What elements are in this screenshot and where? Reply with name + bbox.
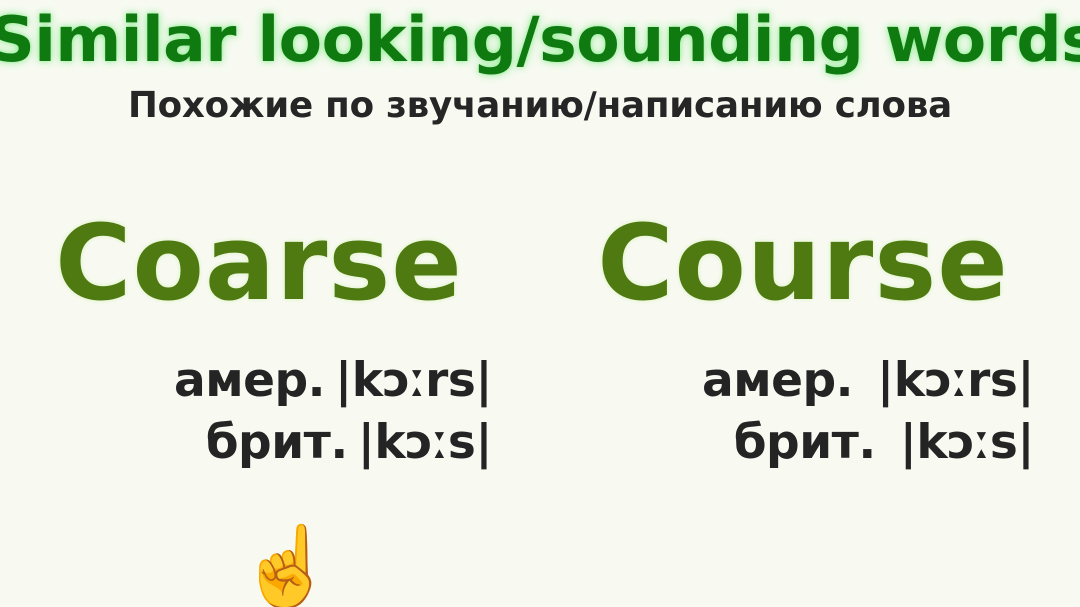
pronunciation-label-american: амер. [174,353,325,408]
word-comparison-columns: Coarse амер.|kɔːrs| брит.|kɔːs| Course а… [0,198,1080,474]
header: Similar looking/sounding words Похожие п… [0,0,1080,132]
pronunciation-label-british: брит. [734,415,876,470]
pronunciation-block-coarse: амер.|kɔːrs| брит.|kɔːs| [18,350,500,474]
slide-canvas: Similar looking/sounding words Похожие п… [0,0,1080,607]
pronunciation-ipa-american: |kɔːrs| [877,353,1034,408]
word-column-course: Course амер.|kɔːrs| брит.|kɔːs| [540,198,1080,474]
pronunciation-label-british: брит. [206,415,348,470]
pointing-up-hand-icon: ☝️ [238,528,335,606]
pronunciation-ipa-british: |kɔːs| [900,415,1034,470]
pronunciation-label-american: амер. [702,353,853,408]
word-column-coarse: Coarse амер.|kɔːrs| брит.|kɔːs| [0,198,540,474]
pronunciation-british-coarse: брит.|kɔːs| [18,412,492,474]
page-title: Similar looking/sounding words [0,0,1080,80]
pronunciation-american-course: амер.|kɔːrs| [564,350,1034,412]
page-subtitle: Похожие по звучанию/написанию слова [5,80,1074,132]
pronunciation-british-course: брит.|kɔːs| [564,412,1034,474]
headword-course: Course [564,198,1042,328]
pronunciation-ipa-british: |kɔːs| [358,415,492,470]
pronunciation-american-coarse: амер.|kɔːrs| [18,350,492,412]
headword-coarse: Coarse [18,198,500,328]
pronunciation-block-course: амер.|kɔːrs| брит.|kɔːs| [564,350,1042,474]
pronunciation-ipa-american: |kɔːrs| [335,353,492,408]
